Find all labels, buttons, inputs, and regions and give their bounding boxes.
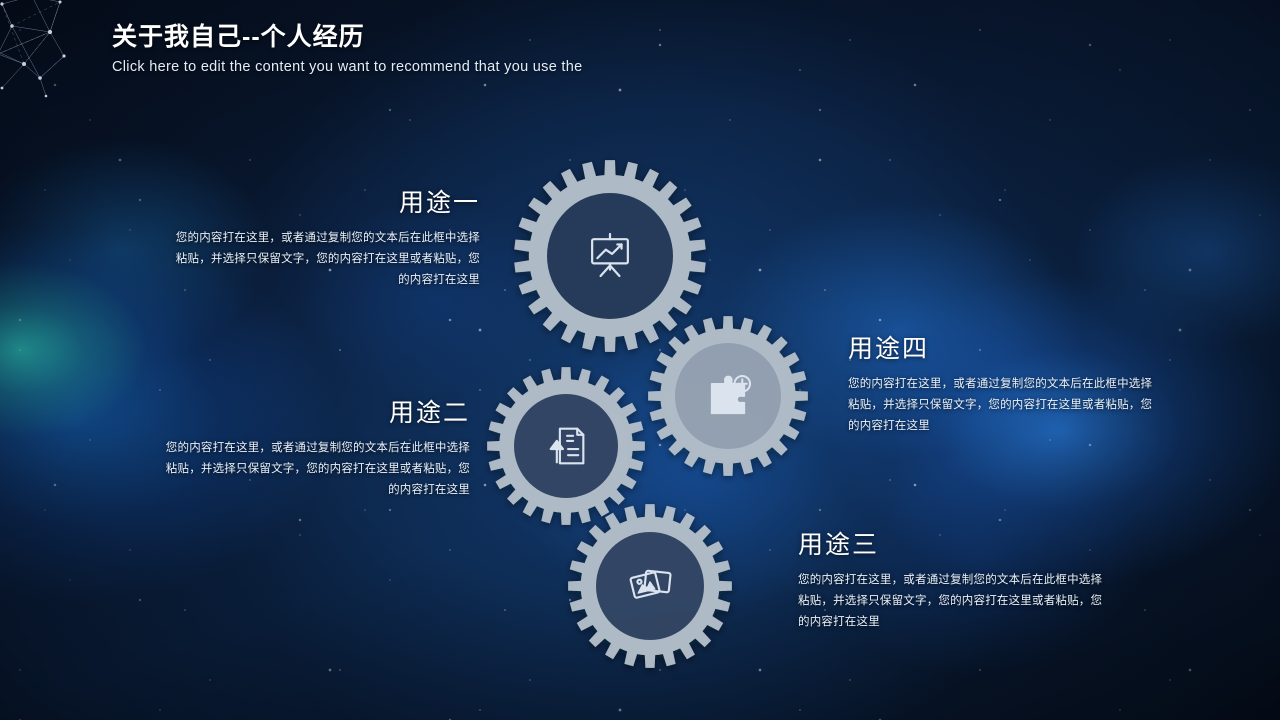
content-block-one: 用途一 您的内容打在这里，或者通过复制您的文本后在此框中选择粘贴，并选择只保留文… xyxy=(168,188,480,291)
block-four-heading: 用途四 xyxy=(848,334,1158,364)
block-one-body: 您的内容打在这里，或者通过复制您的文本后在此框中选择粘贴，并选择只保留文字，您的… xyxy=(168,228,480,291)
content-block-three: 用途三 您的内容打在这里，或者通过复制您的文本后在此框中选择粘贴，并选择只保留文… xyxy=(798,530,1108,633)
block-one-heading: 用途一 xyxy=(168,188,480,218)
block-three-body: 您的内容打在这里，或者通过复制您的文本后在此框中选择粘贴，并选择只保留文字，您的… xyxy=(798,570,1108,633)
block-four-body: 您的内容打在这里，或者通过复制您的文本后在此框中选择粘贴，并选择只保留文字，您的… xyxy=(848,374,1158,437)
content-block-four: 用途四 您的内容打在这里，或者通过复制您的文本后在此框中选择粘贴，并选择只保留文… xyxy=(848,334,1158,437)
block-two-body: 您的内容打在这里，或者通过复制您的文本后在此框中选择粘贴，并选择只保留文字，您的… xyxy=(158,438,470,501)
block-three-heading: 用途三 xyxy=(798,530,1108,560)
gear-two-hub xyxy=(514,394,618,498)
slide-canvas: 关于我自己--个人经历 Click here to edit the conte… xyxy=(0,0,1280,720)
gear-one-hub xyxy=(547,193,673,319)
block-two-heading: 用途二 xyxy=(158,398,470,428)
gear-two xyxy=(487,367,645,525)
content-block-two: 用途二 您的内容打在这里，或者通过复制您的文本后在此框中选择粘贴，并选择只保留文… xyxy=(158,398,470,501)
gear-one xyxy=(514,160,706,352)
